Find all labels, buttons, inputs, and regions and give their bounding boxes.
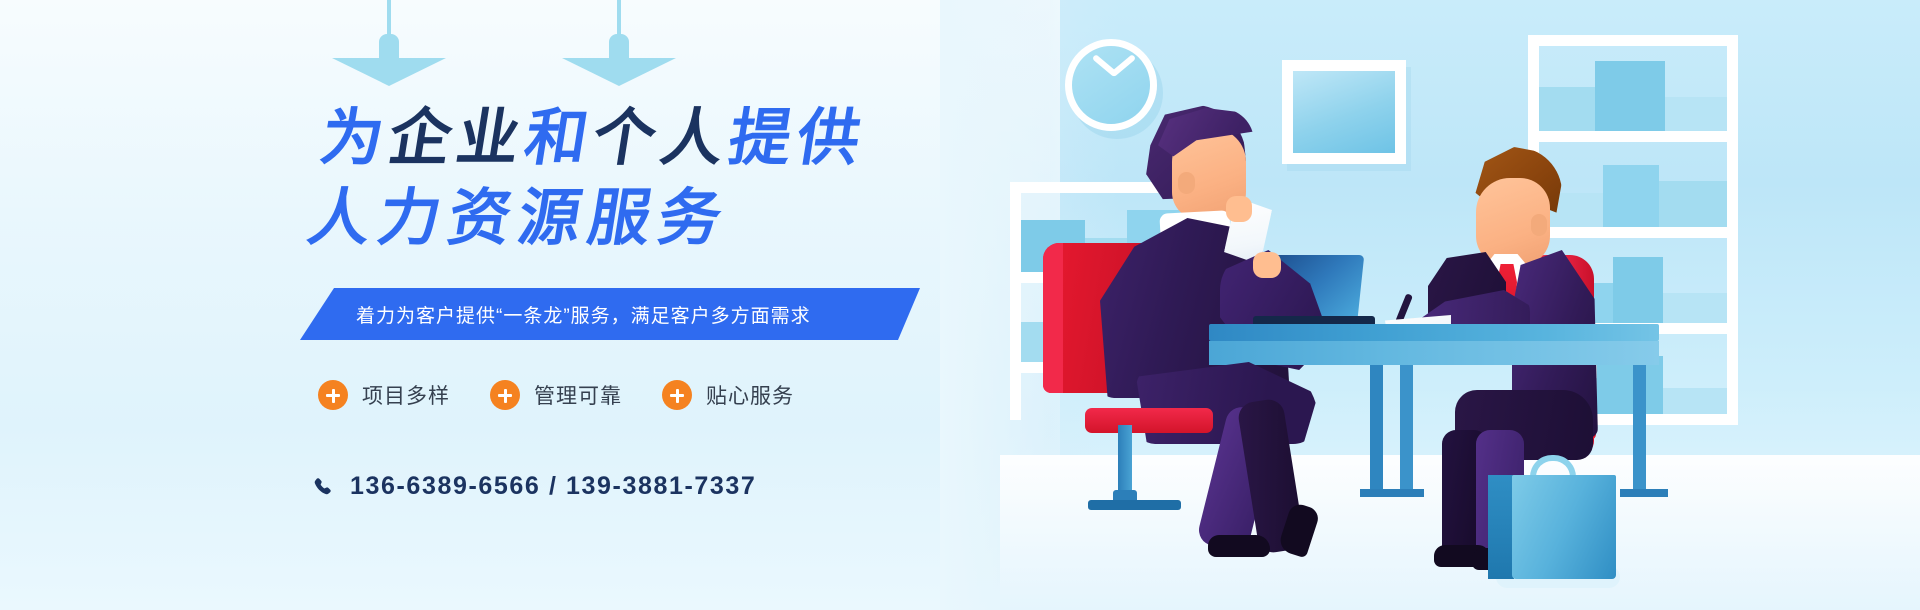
feature-list: 项目多样 管理可靠 贴心服务 — [318, 380, 794, 410]
person-applicant-hand-lower — [1253, 252, 1281, 278]
page-title: 为企业和个人提供 人力资源服务 — [304, 108, 871, 250]
headline-line-1: 为企业和个人提供 — [316, 108, 870, 170]
desk-surface — [1209, 324, 1659, 341]
desk-leg — [1400, 365, 1413, 495]
headline-seg: 企业 — [384, 104, 531, 173]
desk-edge — [1209, 341, 1659, 365]
chair-base-left — [1088, 500, 1181, 510]
shelf-books-row — [1539, 46, 1727, 131]
headline-seg: 人力资源服务 — [303, 184, 734, 253]
briefcase-side — [1488, 475, 1514, 579]
person-interviewer-ear — [1531, 214, 1547, 236]
picture-frame — [1282, 60, 1406, 164]
picture-frame-inner — [1293, 71, 1395, 153]
plus-icon — [662, 380, 692, 410]
person-applicant-shoe-front — [1208, 535, 1270, 557]
plus-icon — [490, 380, 520, 410]
hr-services-banner: 为企业和个人提供 人力资源服务 着力为客户提供“一条龙”服务，满足客户多方面需求… — [0, 0, 1920, 610]
person-applicant-ear — [1178, 172, 1195, 194]
book — [1539, 87, 1595, 131]
shelf-books-row — [1539, 142, 1727, 227]
desk-foot — [1360, 489, 1424, 497]
feature-item-3[interactable]: 贴心服务 — [662, 380, 794, 410]
shelf-board — [1528, 227, 1738, 238]
desk-foot — [1620, 489, 1668, 497]
banner-text-content: 为企业和个人提供 人力资源服务 着力为客户提供“一条龙”服务，满足客户多方面需求… — [0, 0, 980, 610]
feature-label: 贴心服务 — [706, 380, 794, 410]
book — [1663, 293, 1727, 323]
shelf-board — [1528, 35, 1738, 46]
book — [1595, 61, 1665, 131]
headline-seg: 为 — [316, 104, 395, 173]
headline-seg: 个人 — [588, 104, 735, 173]
briefcase-icon — [1512, 475, 1616, 579]
headline-seg: 提供 — [724, 104, 871, 173]
plus-icon — [318, 380, 348, 410]
chair-seat-left — [1085, 408, 1213, 433]
person-applicant-hand-upper — [1226, 196, 1252, 222]
phone-icon — [312, 476, 334, 498]
book — [1663, 388, 1727, 414]
feature-item-2[interactable]: 管理可靠 — [490, 380, 622, 410]
feature-item-1[interactable]: 项目多样 — [318, 380, 450, 410]
desk-leg — [1370, 365, 1383, 495]
subtitle-banner: 着力为客户提供“一条龙”服务，满足客户多方面需求 — [300, 288, 920, 340]
book — [1603, 165, 1659, 227]
book — [1659, 181, 1727, 227]
phone-numbers: 136-6389-6566 / 139-3881-7337 — [350, 472, 756, 501]
clock-hand-minute — [1110, 54, 1136, 77]
desk-leg — [1633, 365, 1646, 495]
contact-row[interactable]: 136-6389-6566 / 139-3881-7337 — [312, 472, 756, 501]
feature-label: 项目多样 — [362, 380, 450, 410]
headline-line-2: 人力资源服务 — [304, 188, 858, 250]
feature-label: 管理可靠 — [534, 380, 622, 410]
office-chair-left-highlight — [1043, 243, 1063, 393]
book — [1665, 97, 1727, 131]
shelf-side — [1010, 182, 1021, 420]
subtitle-text: 着力为客户提供“一条龙”服务，满足客户多方面需求 — [300, 301, 811, 328]
book — [1613, 257, 1663, 323]
shelf-board — [1528, 131, 1738, 142]
wall-clock-icon — [1065, 39, 1157, 131]
headline-seg: 和 — [520, 104, 599, 173]
